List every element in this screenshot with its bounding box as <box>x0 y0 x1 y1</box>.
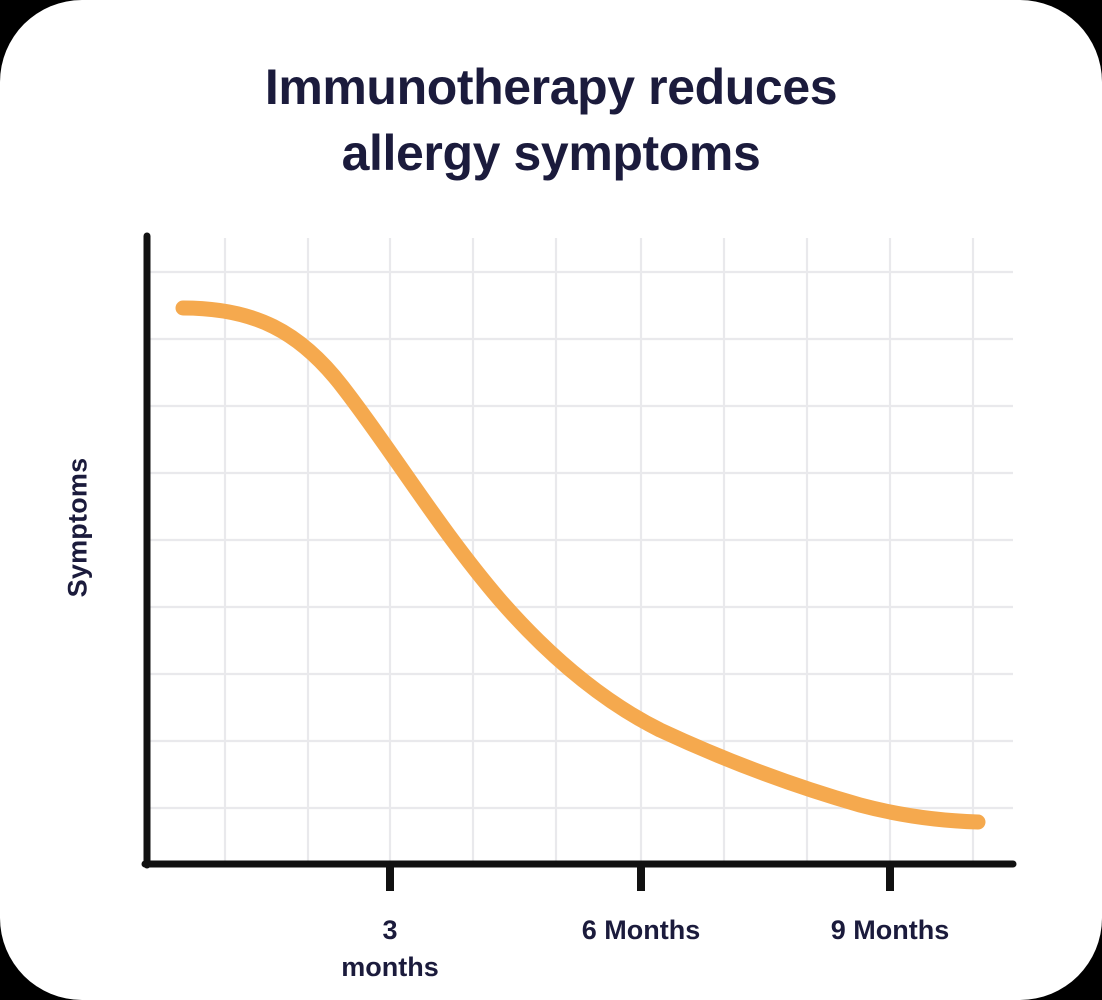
x-axis-tick-label-3-months: 3 months <box>290 912 490 987</box>
chart-card: Immunotherapy reduces allergy symptoms <box>0 0 1102 1000</box>
data-series-line <box>183 308 978 822</box>
x-axis-ticks <box>390 866 890 891</box>
line-chart-plot <box>0 0 1102 1000</box>
grid-horizontal <box>148 272 1013 808</box>
x-axis-tick-label-9-months: 9 Months <box>790 912 990 949</box>
y-axis-label: Symptoms <box>63 428 94 628</box>
x-axis-tick-label-6-months: 6 Months <box>541 912 741 949</box>
grid-vertical <box>225 238 973 862</box>
